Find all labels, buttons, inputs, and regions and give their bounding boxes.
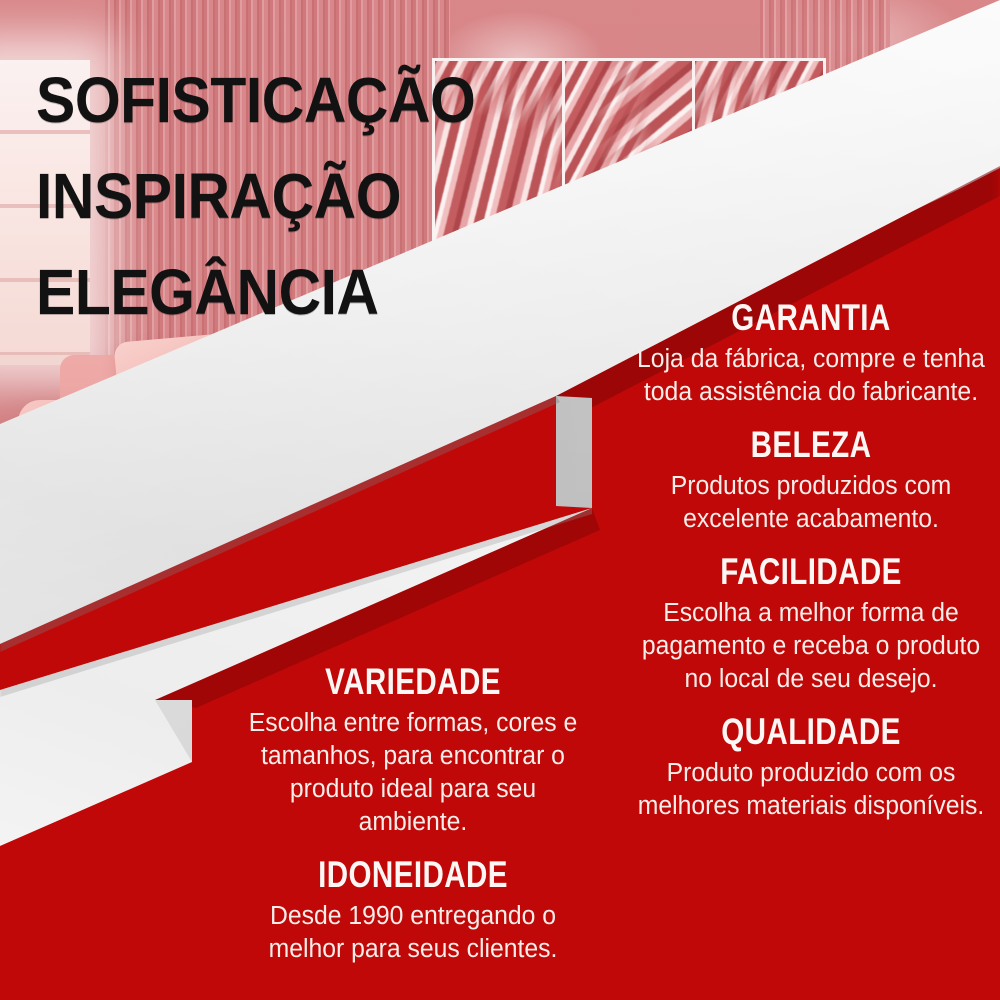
feature-body: Escolha a melhor forma de pagamento e re… bbox=[633, 597, 988, 696]
feature-title: FACILIDADE bbox=[665, 552, 958, 592]
headline-line-2: INSPIRAÇÃO bbox=[36, 148, 475, 244]
feature-garantia: GARANTIA Loja da fábrica, compre e tenha… bbox=[628, 298, 994, 409]
feature-title: VARIEDADE bbox=[265, 662, 561, 702]
feature-body: Produtos produzidos com excelente acabam… bbox=[633, 470, 988, 536]
feature-facilidade: FACILIDADE Escolha a melhor forma de pag… bbox=[628, 552, 994, 696]
feature-variedade: VARIEDADE Escolha entre formas, cores e … bbox=[228, 662, 598, 839]
feature-title: QUALIDADE bbox=[665, 712, 958, 752]
feature-body: Desde 1990 entregando o melhor para seus… bbox=[234, 900, 593, 966]
feature-body: Loja da fábrica, compre e tenha toda ass… bbox=[633, 343, 988, 409]
feature-column-right: GARANTIA Loja da fábrica, compre e tenha… bbox=[628, 298, 994, 839]
feature-title: BELEZA bbox=[665, 425, 958, 465]
headline: SOFISTICAÇÃO INSPIRAÇÃO ELEGÂNCIA bbox=[36, 52, 475, 340]
headline-line-3: ELEGÂNCIA bbox=[36, 244, 475, 340]
feature-beleza: BELEZA Produtos produzidos com excelente… bbox=[628, 425, 994, 536]
feature-title: GARANTIA bbox=[665, 298, 958, 338]
feature-qualidade: QUALIDADE Produto produzido com os melho… bbox=[628, 712, 994, 823]
feature-title: IDONEIDADE bbox=[265, 855, 561, 895]
feature-column-left: VARIEDADE Escolha entre formas, cores e … bbox=[228, 662, 598, 982]
promo-banner: SOFISTICAÇÃO INSPIRAÇÃO ELEGÂNCIA GARANT… bbox=[0, 0, 1000, 1000]
feature-body: Escolha entre formas, cores e tamanhos, … bbox=[234, 707, 593, 839]
feature-body: Produto produzido com os melhores materi… bbox=[633, 757, 988, 823]
feature-idoneidade: IDONEIDADE Desde 1990 entregando o melho… bbox=[228, 855, 598, 966]
headline-line-1: SOFISTICAÇÃO bbox=[36, 52, 475, 148]
